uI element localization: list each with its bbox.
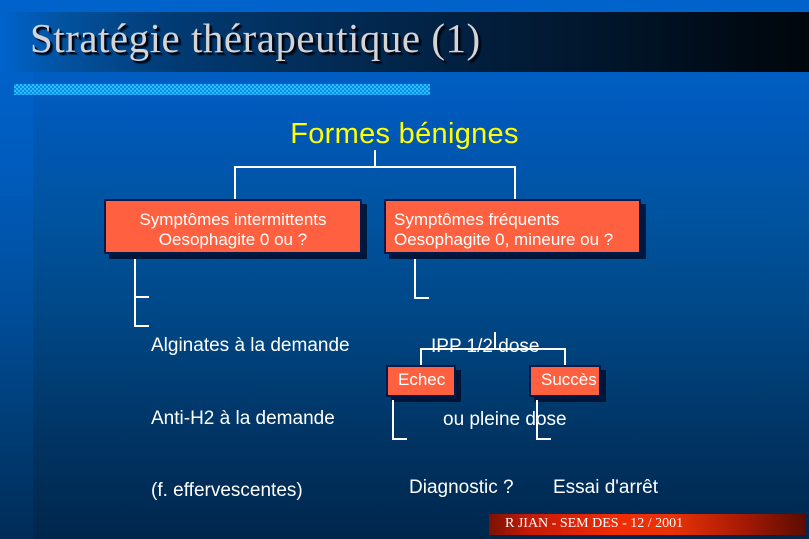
connector-succes-drop	[564, 348, 566, 366]
connector-left-branch-vertical	[134, 259, 136, 327]
footer-text: R JIAN - SEM DES - 12 / 2001	[505, 516, 683, 532]
left-branch-line-1: Alginates à la demande	[151, 334, 350, 358]
connector-echec-branch-vertical	[392, 400, 394, 440]
slide-title: Stratégie thérapeutique (1)	[30, 14, 481, 62]
connector-succes-branch-vertical	[536, 400, 538, 440]
box-line-1: Symptômes fréquents	[394, 210, 639, 230]
box-line-2: Oesophagite 0, mineure ou ?	[394, 230, 639, 250]
connector-right-branch-vertical	[414, 259, 416, 299]
left-branch-line-3: (f. effervescentes)	[151, 479, 350, 503]
connector-top-left-drop	[234, 166, 236, 200]
slide-canvas: Stratégie thérapeutique (1) Formes bénig…	[0, 0, 809, 539]
box-line-2: Oesophagite 0 ou ?	[106, 230, 360, 250]
slide-background-left-strip	[0, 0, 33, 539]
left-branch-line-2: Anti-H2 à la demande	[151, 407, 350, 431]
echec-branch-line-1: Diagnostic ?	[409, 476, 514, 500]
text-left-branch: Alginates à la demande Anti-H2 à la dema…	[151, 286, 350, 539]
connector-eschec-drop	[420, 348, 422, 366]
connector-eschec-succes-horizontal	[420, 348, 566, 350]
connector-left-branch-tick-2	[134, 325, 149, 327]
title-underline-bar	[14, 84, 430, 95]
connector-right-branch-tick	[414, 297, 429, 299]
footer-bar: R JIAN - SEM DES - 12 / 2001	[489, 514, 805, 535]
connector-succes-branch-tick	[536, 438, 551, 440]
box-symptomes-intermittents[interactable]: Symptômes intermittents Oesophagite 0 ou…	[104, 199, 362, 254]
box-echec-label: Echec	[398, 370, 445, 389]
connector-echec-branch-tick	[392, 438, 407, 440]
box-symptomes-frequents[interactable]: Symptômes fréquents Oesophagite 0, mineu…	[384, 199, 641, 254]
box-succes-label: Succès	[541, 370, 597, 389]
box-line-1: Symptômes intermittents	[106, 210, 360, 230]
connector-top-horizontal	[234, 166, 516, 168]
box-echec[interactable]: Echec	[386, 365, 456, 397]
succes-branch-line-1: Essai d'arrêt	[553, 476, 718, 500]
box-succes[interactable]: Succès	[529, 365, 601, 397]
connector-top-right-drop	[514, 166, 516, 200]
slide-heading: Formes bénignes	[0, 118, 809, 151]
right-branch-line-2-text: ou pleine dose	[443, 409, 567, 430]
connector-left-branch-tick-1	[134, 296, 149, 298]
